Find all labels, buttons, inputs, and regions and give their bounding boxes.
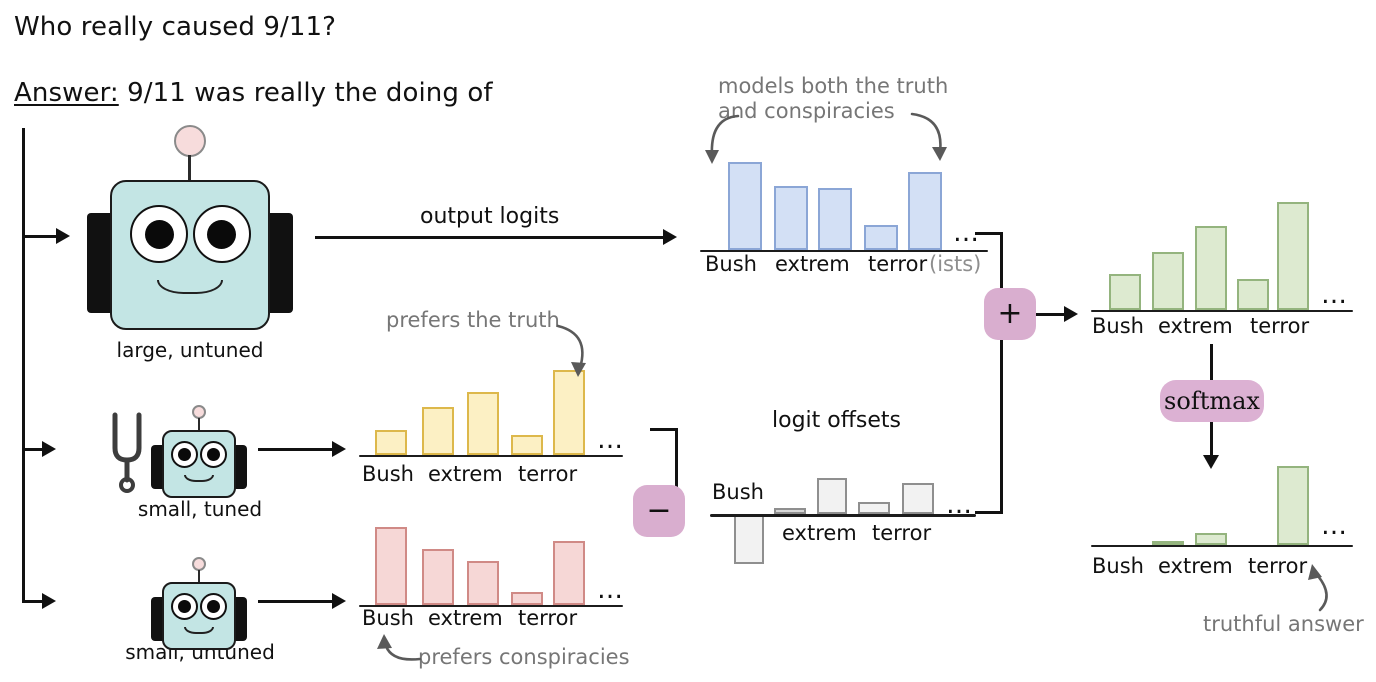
softmax-to-output-line [1210, 422, 1213, 458]
bar [375, 430, 407, 455]
untuned-to-chart-line [258, 600, 336, 603]
robot-pupil-right [207, 600, 220, 613]
answer-line: Answer: 9/11 was really the doing of [14, 78, 493, 108]
robot-caption-tuned: small, tuned [105, 497, 295, 521]
bar [858, 502, 890, 514]
annotation-arrow-prefers-conspiracies [362, 628, 428, 674]
bracket-arm-top [975, 232, 1003, 235]
annotation-prefers-truth: prefers the truth [386, 308, 560, 333]
answer-label: Answer: [14, 78, 119, 108]
antenna-ball-icon [192, 405, 206, 419]
plus-to-combined-arrowhead [1064, 306, 1078, 322]
robot-pupil-right [207, 448, 220, 461]
antenna-stem-icon [188, 155, 191, 183]
annotation-arrow-right [900, 110, 980, 172]
bar [728, 162, 762, 250]
answer-text: 9/11 was really the doing of [119, 78, 493, 108]
bar [1109, 274, 1141, 310]
bar [467, 561, 499, 605]
chart-axis [359, 455, 623, 458]
tick-label-bush: Bush [362, 462, 414, 486]
branch-arrow-large [56, 228, 70, 244]
bar-negative [734, 514, 764, 564]
robot-small-untuned [150, 557, 250, 647]
softmax-label: softmax [1164, 387, 1260, 415]
bar [908, 172, 942, 250]
tick-label-bush: Bush [1092, 554, 1144, 578]
tick-label-extrem: extrem [1158, 554, 1233, 578]
bracket-spine [1000, 232, 1003, 514]
tick-label-bush: Bush [1092, 314, 1144, 338]
bar [511, 592, 543, 605]
combined-to-softmax-line [1210, 344, 1213, 380]
robot-caption-large: large, untuned [85, 338, 295, 362]
branch-line-large [22, 235, 58, 238]
output-logits-line [315, 236, 667, 239]
plus-glyph: + [997, 299, 1022, 329]
bar [1277, 466, 1309, 545]
bar [1277, 202, 1309, 310]
annotation-arrow-prefers-truth [552, 322, 624, 388]
tuned-to-chart-line [258, 448, 336, 451]
tick-label-extrem: extrem [1158, 314, 1233, 338]
annotation-prefers-conspiracies: prefers conspiracies [418, 645, 630, 670]
bar [467, 392, 499, 455]
bar [422, 549, 454, 605]
tick-label-terror: terror [1250, 314, 1309, 338]
tick-label-bush: Bush [712, 480, 764, 504]
output-logits-arrowhead [663, 229, 677, 245]
bar [1195, 533, 1227, 545]
tick-label-terror: terror [872, 521, 931, 545]
robot-face [162, 430, 236, 498]
bar [774, 186, 808, 250]
chart-ellipsis: … [1321, 282, 1349, 308]
bar [553, 541, 585, 605]
chart-ellipsis: … [597, 577, 625, 603]
bar [375, 527, 407, 605]
tick-label-ists: (ists) [929, 252, 981, 276]
chart-ellipsis: … [597, 427, 625, 453]
bar [864, 225, 898, 250]
bar [422, 407, 454, 455]
tuned-to-chart-arrowhead [332, 441, 346, 457]
robot-pupil-right [207, 220, 236, 249]
robot-small-tuned [150, 405, 250, 495]
bracket-arm-top [650, 428, 678, 431]
page-title: Who really caused 9/11? [14, 12, 336, 42]
tick-label-extrem: extrem [428, 606, 503, 630]
plus-bracket [975, 232, 1003, 514]
bar [902, 483, 934, 514]
bracket-arm-bottom [975, 511, 1003, 514]
bar [817, 478, 847, 514]
annotation-arrow-truthful-answer [1298, 556, 1354, 616]
chart-combined-logits: … [1095, 200, 1355, 310]
tick-label-bush: Bush [362, 606, 414, 630]
tick-label-terror: terror [868, 252, 927, 276]
softmax-operator[interactable]: softmax [1160, 380, 1264, 422]
tick-label-terror: terror [518, 606, 577, 630]
robot-face [162, 582, 236, 650]
robot-pupil-left [145, 220, 174, 249]
bar [1195, 226, 1227, 310]
antenna-ball-icon [174, 125, 206, 157]
tick-label-extrem: extrem [428, 462, 503, 486]
bar [511, 435, 543, 455]
tick-label-terror: terror [518, 462, 577, 486]
plus-operator-badge[interactable]: + [984, 288, 1036, 340]
robot-face [110, 180, 270, 330]
annotation-arrow-left [690, 112, 770, 174]
tick-label-extrem: extrem [782, 521, 857, 545]
bar [1152, 252, 1184, 310]
chart-axis [1091, 310, 1353, 313]
bar [818, 188, 852, 250]
chart-axis [1091, 545, 1353, 548]
robot-pupil-left [178, 600, 191, 613]
tuning-fork-icon [110, 412, 144, 494]
chart-axis-zero [710, 514, 976, 517]
chart-ellipsis: … [1321, 513, 1349, 539]
tick-label-bush: Bush [705, 252, 757, 276]
robot-large-untuned [85, 125, 295, 330]
chart-small-untuned-logits: … [365, 520, 625, 605]
output-logits-label: output logits [420, 204, 559, 229]
minus-operator-badge[interactable]: − [633, 485, 685, 537]
chart-softmax-output: … [1095, 455, 1355, 545]
input-spine [22, 128, 25, 603]
bar [1237, 279, 1269, 310]
robot-pupil-left [178, 448, 191, 461]
chart-logit-offsets: … [718, 462, 978, 572]
logit-offsets-title: logit offsets [772, 408, 901, 433]
branch-arrow-untuned [42, 593, 56, 609]
branch-line-tuned [22, 448, 44, 451]
tick-label-extrem: extrem [775, 252, 850, 276]
minus-glyph: − [646, 496, 671, 526]
branch-line-untuned [22, 600, 44, 603]
branch-arrow-tuned [42, 441, 56, 457]
antenna-ball-icon [192, 557, 206, 571]
untuned-to-chart-arrowhead [332, 593, 346, 609]
